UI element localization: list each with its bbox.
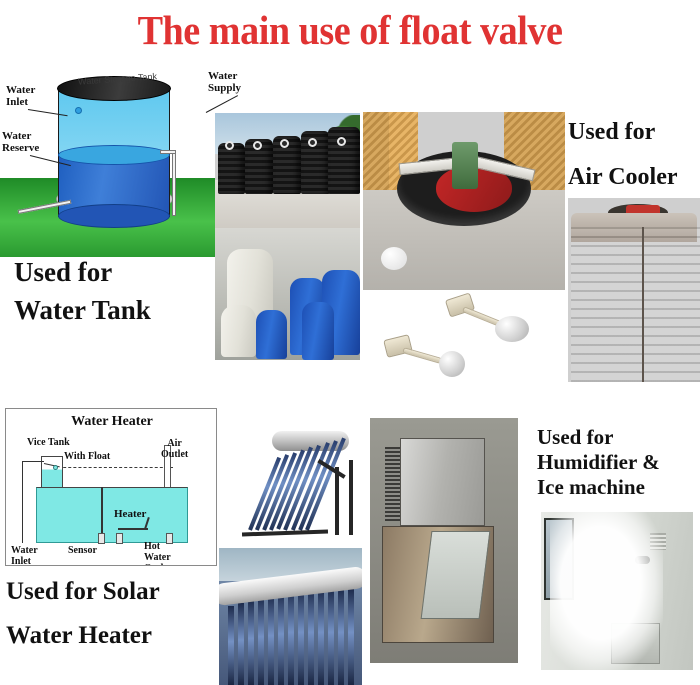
inlet-pipe-horizontal [22,461,44,462]
tank-water-surface [58,145,170,165]
heater-diagram-title: Water Heater [6,414,217,430]
sensor-label: Sensor [68,545,97,556]
water-level-dashed-line [53,467,173,468]
photo-black-water-tanks [215,113,360,228]
water-tank-diagram: Water Storage Tank Water Inlet Water Res… [0,62,216,257]
photo-humidifier [541,512,693,670]
water-bubble-icon [75,107,82,114]
inlet-pipe-vertical [22,461,23,543]
heater-mount [116,533,123,544]
supply-pipe-vertical [172,150,176,216]
float-ball-icon [53,465,58,470]
water-reserve-label: Water Reserve [2,130,39,154]
vice-tank-label: Vice Tank [27,437,70,448]
caption-solar-water-heater: Used for Solar Water Heater [6,570,160,658]
caption-humidifier-ice: Used for Humidifier & Ice machine [537,425,660,500]
photo-air-cooler-unit [568,198,700,382]
with-float-label: With Float [64,451,110,462]
water-inlet-label: Water Inlet [6,84,35,108]
air-outlet-label: Air Outlet [161,438,188,460]
poster-canvas: The main use of float valve Water Storag… [0,0,700,685]
heater-water-inlet-label: Water Inlet [11,545,38,566]
photo-float-valves [363,290,565,382]
sensor-probe [101,487,103,539]
tank-bottom-ellipse [58,204,170,228]
photo-ice-machine [370,418,518,663]
water-heater-diagram: Water Heater Vice Tank With Float Air Ou… [5,408,217,566]
caption-water-tank: Used for Water Tank [14,253,151,329]
photo-solar-water-heater [219,418,362,548]
page-title: The main use of float valve [25,6,676,54]
heater-label: Heater [114,509,146,520]
sensor-body [98,533,105,544]
water-supply-label: Water Supply [208,70,241,94]
hot-water-outlet-label: Hot Water Outlet [144,541,171,566]
vice-tank-shape [41,456,63,488]
supply-pipe-horizontal [160,150,176,154]
photo-solar-rooftop-array [219,548,362,685]
photo-blue-water-tanks [215,228,360,360]
caption-air-cooler: Used for Air Cooler [568,110,678,200]
photo-air-cooler-interior [363,112,565,290]
